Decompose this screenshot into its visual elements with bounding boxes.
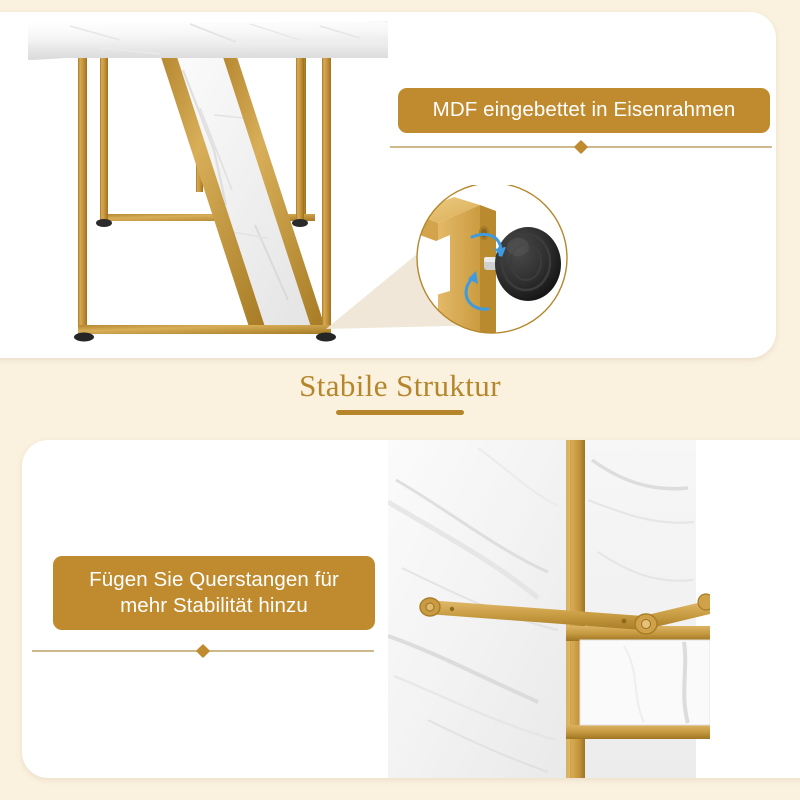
- title-underline: [336, 410, 464, 415]
- section-title-block: Stabile Struktur: [0, 370, 800, 415]
- badge-crossbar-line-2: mehr Stabilität hinzu: [89, 593, 339, 619]
- badge-mdf-label: MDF eingebettet in Eisenrahmen: [433, 97, 736, 123]
- divider-diamond-icon: [574, 140, 588, 154]
- page-title: Stabile Struktur: [0, 370, 800, 401]
- divider-diamond-icon: [196, 644, 210, 658]
- badge-mdf-iron-frame: MDF eingebettet in Eisenrahmen: [398, 88, 770, 133]
- adjustable-foot-magnifier: [320, 185, 590, 360]
- divider-top: [390, 141, 772, 153]
- product-infographic: MDF eingebettet in Eisenrahmen Stabile S…: [0, 0, 800, 800]
- badge-crossbar-line-1: Fügen Sie Querstangen für: [89, 567, 339, 593]
- crossbar-detail-photo: [388, 440, 710, 778]
- badge-add-crossbars: Fügen Sie Querstangen für mehr Stabilitä…: [53, 556, 375, 630]
- divider-bottom: [32, 645, 374, 657]
